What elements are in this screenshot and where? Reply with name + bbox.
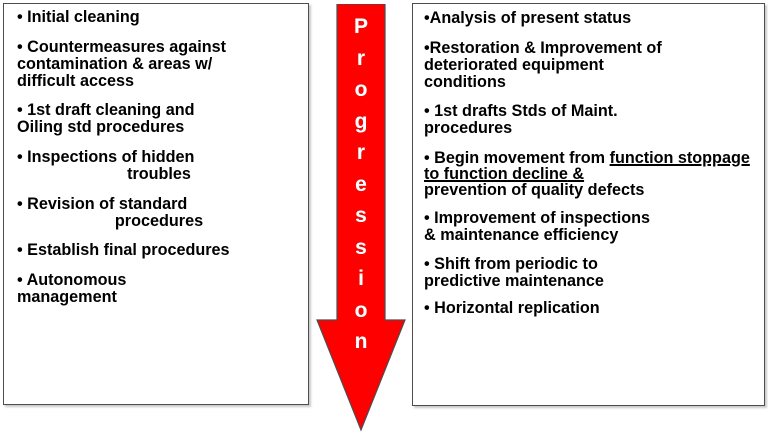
- list-item: • Establish final procedures: [17, 242, 301, 259]
- bullet-line: • Initial cleaning: [17, 8, 140, 26]
- bullet-line: management: [17, 288, 117, 306]
- bullet-line: • Improvement of inspections: [424, 209, 650, 227]
- bullet-line: • 1st drafts Stds of Maint.: [424, 102, 618, 120]
- bullet-line: • 1st draft cleaning and: [17, 101, 194, 119]
- list-item: • Inspections of hidden troubles: [17, 149, 301, 183]
- bullet-line: • Autonomous: [17, 271, 126, 289]
- list-item: • Begin movement from function stoppage …: [424, 150, 756, 199]
- bullet-line: •Analysis of present status: [424, 9, 631, 27]
- right-bullet-list: •Analysis of present status •Restoration…: [413, 4, 764, 317]
- left-bullet-list: • Initial cleaning • Countermeasures aga…: [4, 4, 308, 306]
- bullet-line: • Inspections of hidden: [17, 148, 194, 166]
- bullet-line: & maintenance efficiency: [424, 226, 618, 244]
- progression-arrow: P r o g r e s s i o n: [315, 4, 407, 432]
- left-content-panel: • Initial cleaning • Countermeasures aga…: [3, 3, 309, 405]
- slide-canvas: • Initial cleaning • Countermeasures aga…: [0, 0, 768, 435]
- bullet-line: • Countermeasures against: [17, 38, 226, 56]
- list-item: • Improvement of inspections & maintenan…: [424, 210, 756, 244]
- right-content-panel: •Analysis of present status •Restoration…: [412, 3, 765, 406]
- list-item: •Analysis of present status: [424, 10, 756, 27]
- down-arrow-icon: [315, 4, 407, 432]
- list-item: • 1st drafts Stds of Maint. procedures: [424, 103, 756, 137]
- bullet-line: conditions: [424, 73, 506, 91]
- bullet-line: procedures: [424, 119, 512, 137]
- list-item: • Countermeasures against contamination …: [17, 39, 301, 90]
- list-item: • Revision of standard procedures: [17, 196, 301, 230]
- list-item: •Restoration & Improvement of deteriorat…: [424, 40, 756, 91]
- bullet-line: • Horizontal replication: [424, 299, 600, 317]
- bullet-line: prevention of quality defects: [424, 181, 644, 199]
- bullet-line: deteriorated equipment: [424, 56, 604, 74]
- bullet-line: •Restoration & Improvement of: [424, 39, 662, 57]
- list-item: • Initial cleaning: [17, 9, 301, 26]
- list-item: • Horizontal replication: [424, 300, 756, 317]
- bullet-line-centered: troubles: [17, 166, 301, 183]
- bullet-line: contamination & areas w/: [17, 55, 212, 73]
- bullet-line-centered: procedures: [17, 213, 301, 230]
- list-item: • 1st draft cleaning and Oiling std proc…: [17, 102, 301, 136]
- bullet-line: • Establish final procedures: [17, 241, 230, 259]
- bullet-line: difficult access: [17, 72, 134, 90]
- bullet-line: predictive maintenance: [424, 272, 604, 290]
- list-item: • Autonomous management: [17, 272, 301, 306]
- list-item: • Shift from periodic to predictive main…: [424, 256, 756, 288]
- bullet-line: • Revision of standard: [17, 195, 187, 213]
- bullet-line: Oiling std procedures: [17, 118, 184, 136]
